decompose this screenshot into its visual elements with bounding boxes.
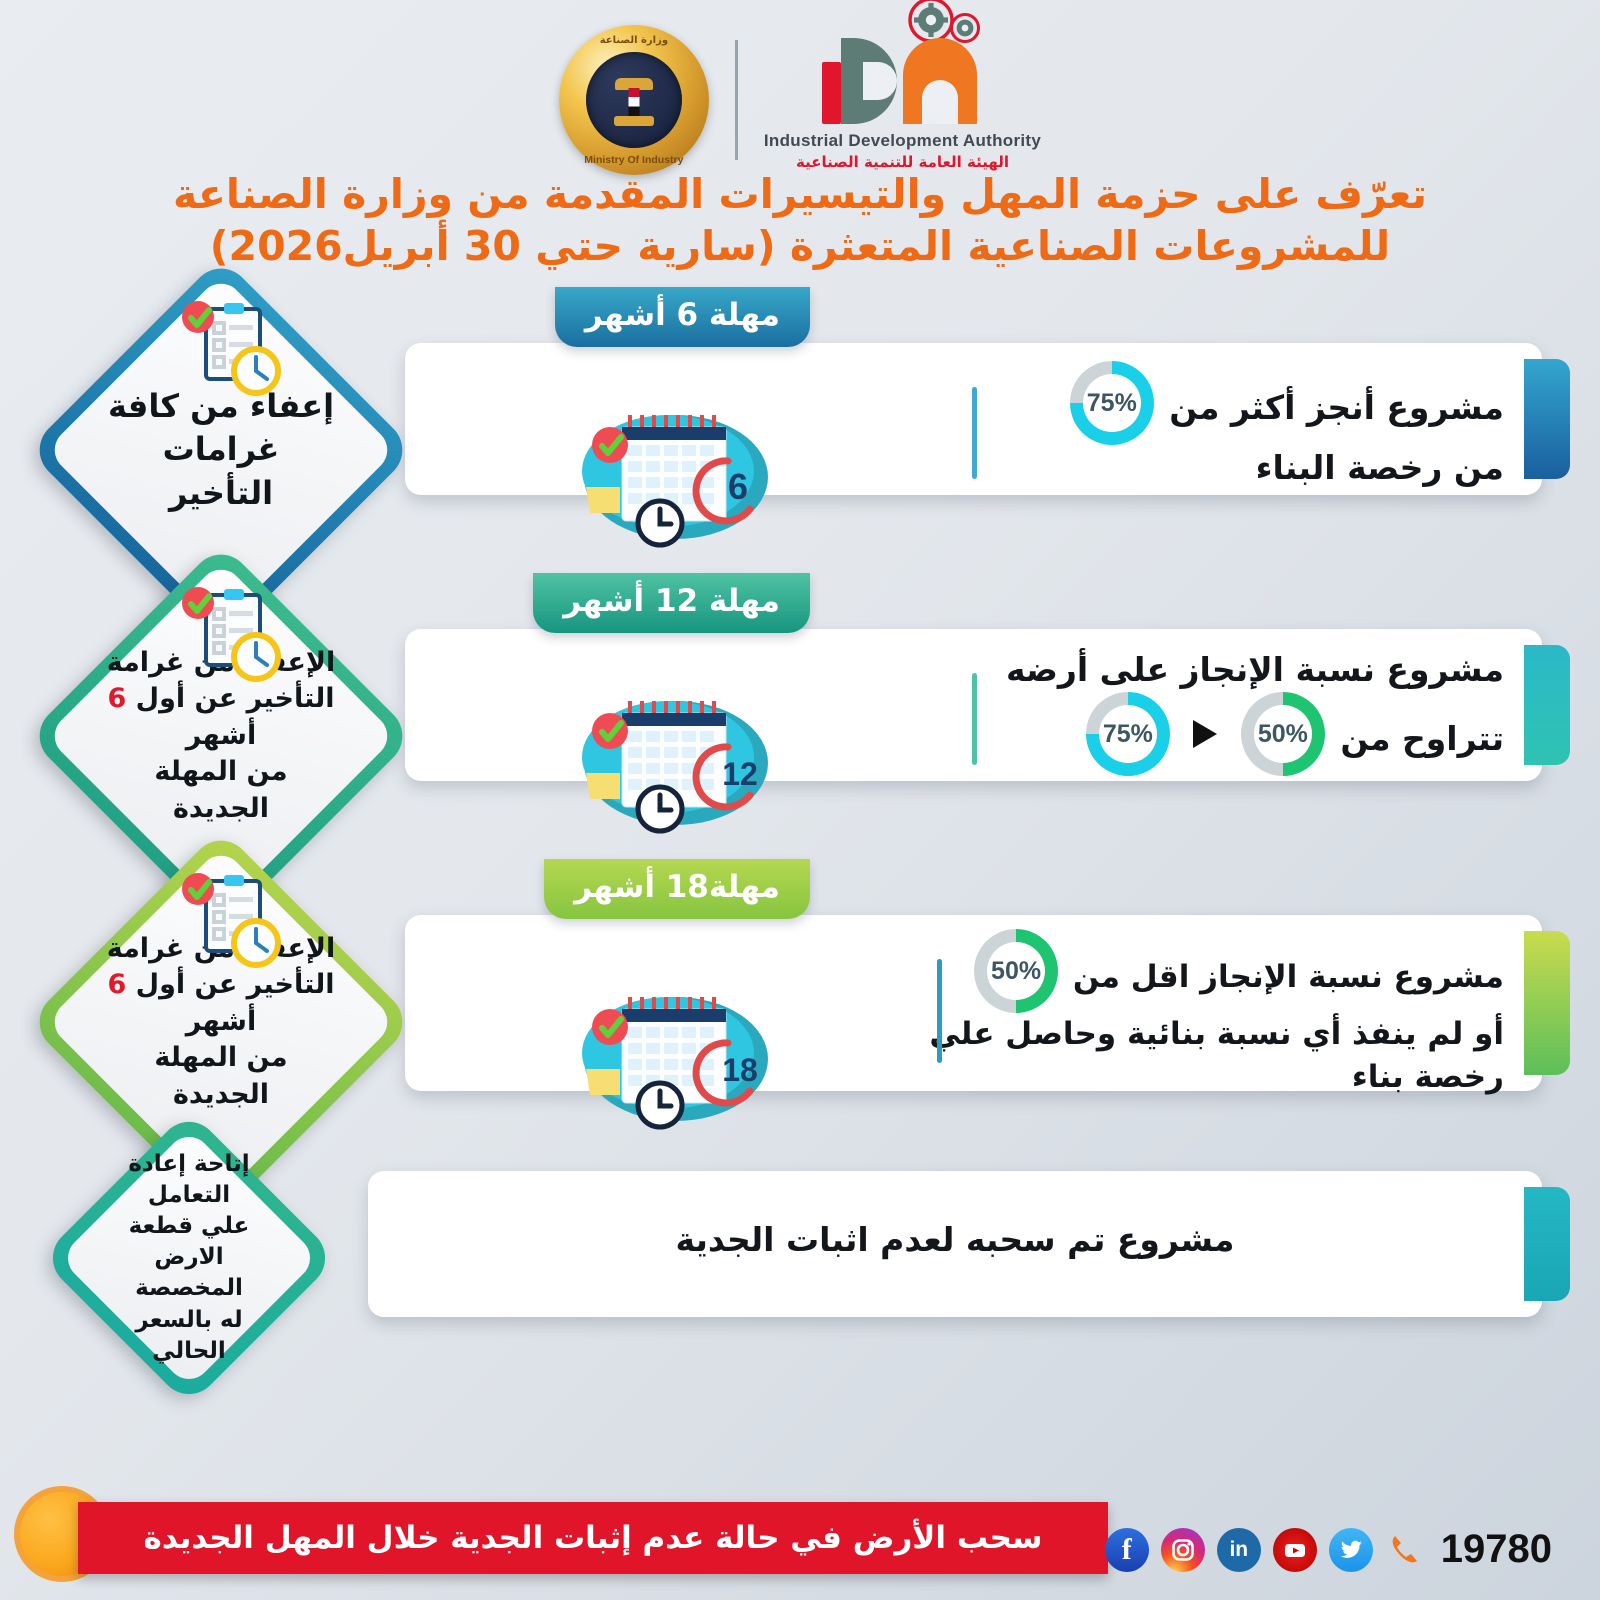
row-6-months: مشروع أنجز أكثر من 75% من رخصة البناء مه… [0, 287, 1600, 573]
desc-text: مشروع أنجز أكثر من [1169, 388, 1504, 427]
grace-period-badge: مهلة18 أشهر [544, 859, 810, 919]
diamond-line: له بالسعر الحالي [98, 1305, 280, 1367]
warning-banner-text: سحب الأرض في حالة عدم إثبات الجدية خلال … [144, 1520, 1043, 1556]
eagle-of-saladin-icon [610, 72, 658, 128]
diamond-line: غرامات التأخير [106, 428, 336, 514]
page-footer: سحب الأرض في حالة عدم إثبات الجدية خلال … [0, 1480, 1600, 1600]
vertical-separator [972, 673, 977, 765]
ida-logomark [822, 30, 983, 124]
benefit-diamond: إتاحة إعادة التعامل علي قطعة الارض المخص… [84, 1153, 294, 1363]
donut-value: 50% [1254, 705, 1312, 763]
card-accent-tab [1524, 359, 1570, 479]
desc-text-3: رخصة بناء [1352, 1059, 1504, 1095]
seal-inner-disc [586, 52, 682, 148]
row-withdrawn-project: مشروع تم سحبه لعدم اثبات الجدية إتاحة إع… [0, 1145, 1600, 1375]
twitter-icon[interactable] [1329, 1528, 1373, 1572]
youtube-icon[interactable] [1273, 1528, 1317, 1572]
egypt-flag-shield [628, 88, 639, 116]
page-title: تعرّف على حزمة المهل والتيسيرات المقدمة … [0, 160, 1600, 273]
vertical-separator [937, 959, 942, 1063]
desc-text: مشروع نسبة الإنجاز على أرضه [1006, 650, 1504, 689]
clipboard-clock-icon [172, 581, 292, 701]
calendar-illustration: 6 [568, 399, 782, 549]
calendar-month-count: 6 [728, 466, 748, 507]
row-18-months: مشروع نسبة الإنجاز اقل من 50% أو لم ينفذ… [0, 859, 1600, 1145]
diamond-line: من المهلة الجديدة [102, 1040, 340, 1113]
seal-label-ar: وزارة الصناعة [600, 35, 668, 46]
instagram-icon[interactable] [1161, 1528, 1205, 1572]
warning-banner: سحب الأرض في حالة عدم إثبات الجدية خلال … [78, 1502, 1108, 1574]
page-header: Industrial Development Authority الهيئة … [0, 0, 1600, 160]
seal-base [614, 116, 654, 126]
logo-letter-a [903, 38, 977, 124]
benefit-diamond: الإعفاء من غرامة التأخير عن أول 6 أشهر م… [84, 885, 358, 1159]
logo-letter-i [822, 62, 841, 124]
arrow-left-icon [1193, 720, 1217, 748]
row-description: مشروع تم سحبه لعدم اثبات الجدية [368, 1217, 1542, 1263]
hotline-number: 19780 [1441, 1527, 1552, 1572]
linkedin-icon[interactable]: in [1217, 1528, 1261, 1572]
calendar-month-count: 12 [722, 756, 758, 792]
desc-text: مشروع نسبة الإنجاز اقل من [1073, 959, 1504, 995]
calendar-illustration: 18 [568, 981, 782, 1131]
donut-75: 75% [1070, 361, 1154, 445]
calendar-illustration: 12 [568, 685, 782, 835]
seal-label-en: Ministry Of Industry [584, 154, 683, 166]
donut-75: 75% [1086, 692, 1170, 776]
donut-value: 75% [1083, 374, 1141, 432]
facebook-glyph: f [1122, 1533, 1132, 1567]
phone-icon[interactable] [1385, 1528, 1429, 1572]
diamond-label: إتاحة إعادة التعامل علي قطعة الارض المخص… [98, 1181, 280, 1335]
facebook-icon[interactable]: f [1105, 1528, 1149, 1572]
donut-value: 50% [987, 942, 1045, 1000]
donut-50: 50% [1241, 692, 1325, 776]
grace-period-badge: مهلة 12 أشهر [533, 573, 810, 633]
desc-text-2: أو لم ينفذ أي نسبة بنائية وحاصل علي [929, 1016, 1504, 1052]
content-card: مشروع تم سحبه لعدم اثبات الجدية [368, 1171, 1542, 1317]
clipboard-clock-icon [172, 867, 292, 987]
card-accent-tab [1524, 645, 1570, 765]
linkedin-glyph: in [1229, 1538, 1248, 1562]
clipboard-clock-icon [172, 295, 292, 415]
donut-value: 75% [1099, 705, 1157, 763]
ida-name-en: Industrial Development Authority [764, 131, 1041, 151]
social-links: 19780 in f [1105, 1527, 1558, 1572]
donut-50: 50% [974, 929, 1058, 1013]
desc-text-2: من رخصة البناء [1256, 448, 1504, 487]
ida-letters [822, 38, 983, 124]
logo-letter-d [841, 38, 897, 124]
grace-period-badge: مهلة 6 أشهر [555, 287, 810, 347]
card-accent-tab [1524, 931, 1570, 1075]
header-divider [735, 40, 738, 160]
benefit-diamond: إعفاء من كافة غرامات التأخير [84, 313, 358, 587]
calendar-month-count: 18 [722, 1052, 758, 1088]
ministry-of-industry-seal: وزارة الصناعة Ministry Of Industry [559, 25, 709, 175]
diamond-line: علي قطعة الارض المخصصة [98, 1211, 280, 1304]
rows-container: مشروع أنجز أكثر من 75% من رخصة البناء مه… [0, 287, 1600, 1375]
desc-text-2: تتراوح من [1340, 719, 1504, 758]
row-12-months: مشروع نسبة الإنجاز على أرضه تتراوح من 50… [0, 573, 1600, 859]
ida-logo: Industrial Development Authority الهيئة … [764, 30, 1041, 171]
vertical-separator [972, 387, 977, 479]
diamond-line: من المهلة الجديدة [102, 754, 340, 827]
diamond-line: إتاحة إعادة التعامل [98, 1149, 280, 1211]
benefit-diamond: الإعفاء من غرامة التأخير عن أول 6 أشهر م… [84, 599, 358, 873]
